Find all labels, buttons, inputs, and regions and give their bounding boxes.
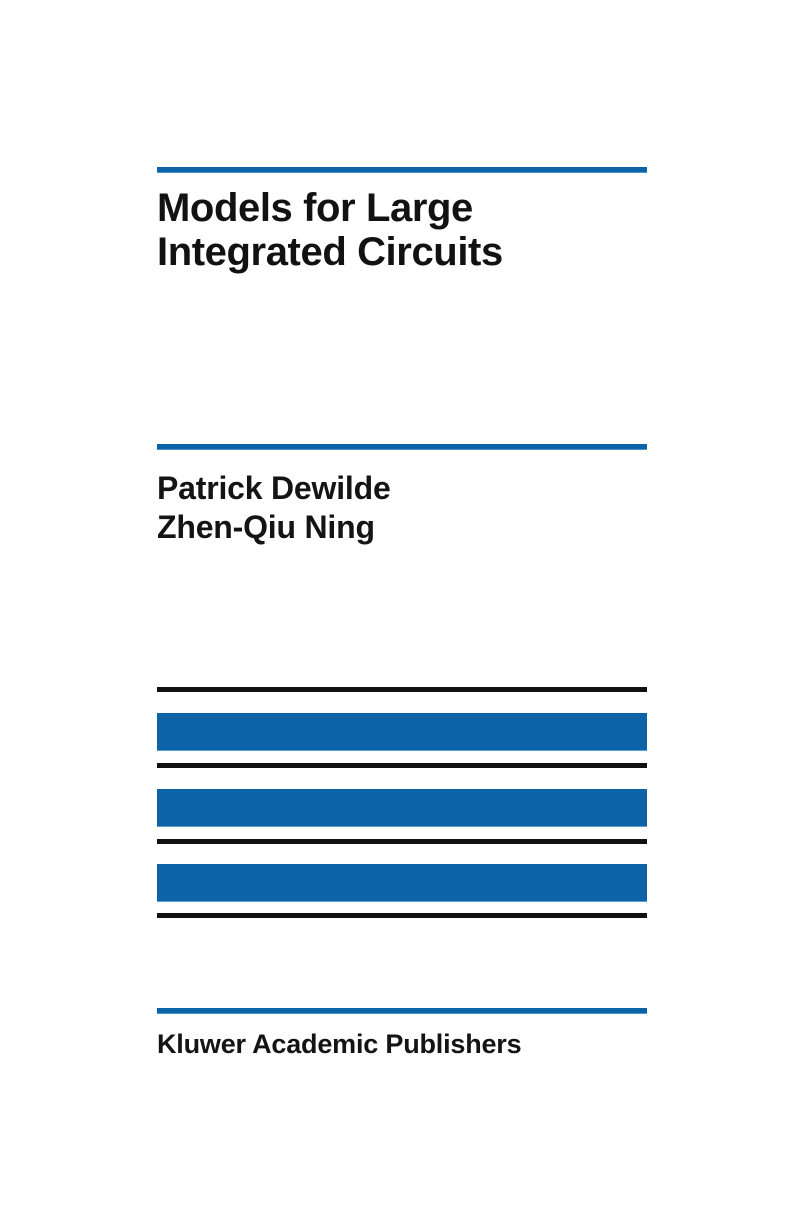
book-title: Models for Large Integrated Circuits bbox=[157, 186, 717, 274]
publisher: Kluwer Academic Publishers bbox=[157, 1028, 677, 1060]
author-name-1: Patrick Dewilde bbox=[157, 469, 677, 508]
authors-top-rule bbox=[157, 444, 647, 449]
band-blue-bar-2 bbox=[157, 789, 647, 826]
title-line-1: Models for Large bbox=[157, 186, 717, 230]
band-blue-bar-1 bbox=[157, 713, 647, 750]
author-name-2: Zhen-Qiu Ning bbox=[157, 508, 677, 547]
band-black-rule-2 bbox=[157, 763, 647, 768]
author-list: Patrick Dewilde Zhen-Qiu Ning bbox=[157, 469, 677, 547]
book-cover: Models for Large Integrated Circuits Pat… bbox=[0, 0, 800, 1217]
band-blue-bar-3 bbox=[157, 864, 647, 901]
band-black-rule-4 bbox=[157, 913, 647, 918]
title-line-2: Integrated Circuits bbox=[157, 230, 717, 274]
publisher-name: Kluwer Academic Publishers bbox=[157, 1028, 677, 1060]
publisher-top-rule bbox=[157, 1008, 647, 1013]
title-top-rule bbox=[157, 167, 647, 172]
band-black-rule-3 bbox=[157, 839, 647, 844]
band-black-rule-1 bbox=[157, 687, 647, 692]
